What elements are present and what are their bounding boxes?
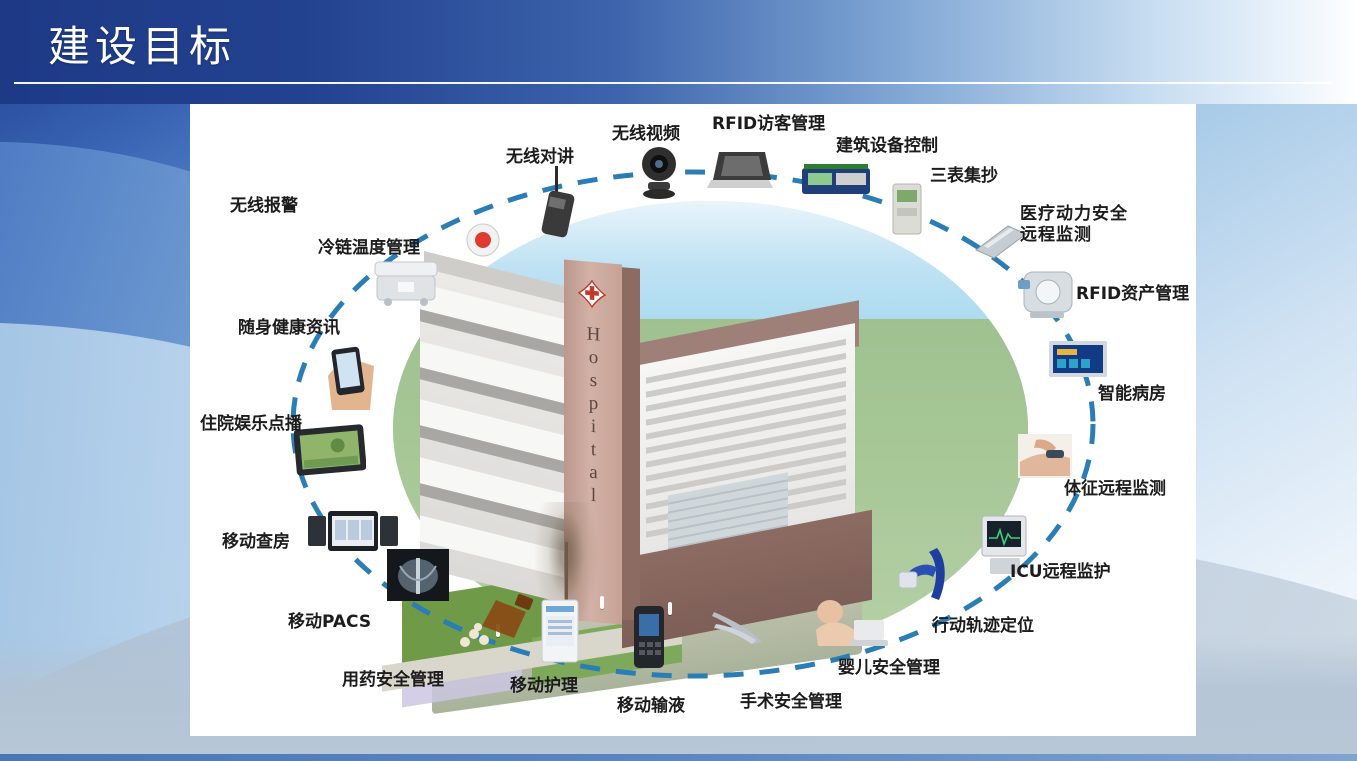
handheld-terminal-icon	[540, 598, 580, 664]
card-reader-icon	[705, 146, 777, 192]
label-wireless-alarm: 无线报警	[230, 196, 298, 217]
walkie-talkie-icon	[535, 164, 583, 244]
label-mobile-infusion: 移动输液	[617, 696, 685, 717]
label-medical-power-safety: 医疗动力安全 远程监测	[1020, 204, 1168, 245]
header-divider	[14, 82, 1332, 84]
label-smart-ward: 智能病房	[1098, 384, 1166, 405]
label-infant-safety: 婴儿安全管理	[838, 658, 940, 679]
iot-hospital-diagram: Hospital	[190, 104, 1196, 736]
slide-root: 建设目标	[0, 0, 1357, 761]
ct-scanner-icon	[1016, 264, 1078, 322]
baby-icon	[810, 596, 888, 652]
label-wireless-intercom: 无线对讲	[506, 147, 574, 168]
label-motion-tracking: 行动轨迹定位	[932, 616, 1034, 637]
content-panel: Hospital	[190, 104, 1196, 736]
cold-box-icon	[372, 256, 440, 308]
arm-sensor-icon	[1018, 434, 1072, 478]
label-inpatient-entertain: 住院娱乐点播	[200, 414, 302, 435]
label-mobile-nursing: 移动护理	[510, 676, 578, 697]
pill-bottle-icon	[458, 594, 536, 650]
xray-film-icon	[386, 548, 450, 602]
label-wireless-video: 无线视频	[612, 124, 680, 145]
label-three-meter-reading: 三表集抄	[930, 166, 998, 187]
label-mobile-rounds: 移动查房	[222, 532, 290, 553]
label-mobile-pacs: 移动PACS	[288, 612, 371, 633]
tablet-row-icon	[308, 510, 398, 552]
slide-header: 建设目标	[0, 0, 1357, 104]
alarm-button-icon	[465, 222, 501, 258]
bottom-accent-strip	[0, 754, 1357, 761]
ward-display-icon	[1048, 340, 1108, 378]
label-cold-chain-temp: 冷链温度管理	[318, 238, 420, 259]
content-clip: Hospital	[190, 104, 1196, 736]
label-vital-signs-remote: 体征远程监测	[1064, 479, 1166, 500]
page-title: 建设目标	[48, 13, 236, 74]
label-personal-health-info: 随身健康资讯	[238, 318, 340, 339]
webcam-icon	[630, 142, 688, 200]
label-building-equipment: 建筑设备控制	[836, 136, 938, 157]
controller-board-icon	[800, 162, 872, 200]
forceps-icon	[710, 602, 776, 646]
dashed-connection-ring	[190, 104, 1196, 736]
pda-scanner-icon	[630, 604, 668, 670]
tablet-icon	[294, 424, 366, 476]
electric-meter-icon	[890, 182, 924, 236]
label-rfid-asset: RFID资产管理	[1076, 284, 1189, 305]
label-surgery-safety: 手术安全管理	[740, 692, 842, 713]
label-icu-remote: ICU远程监护	[1010, 562, 1111, 583]
label-rfid-visitor: RFID访客管理	[712, 114, 825, 135]
smartphone-hand-icon	[318, 340, 380, 412]
label-drug-safety: 用药安全管理	[342, 670, 444, 691]
wristband-icon	[895, 544, 961, 614]
